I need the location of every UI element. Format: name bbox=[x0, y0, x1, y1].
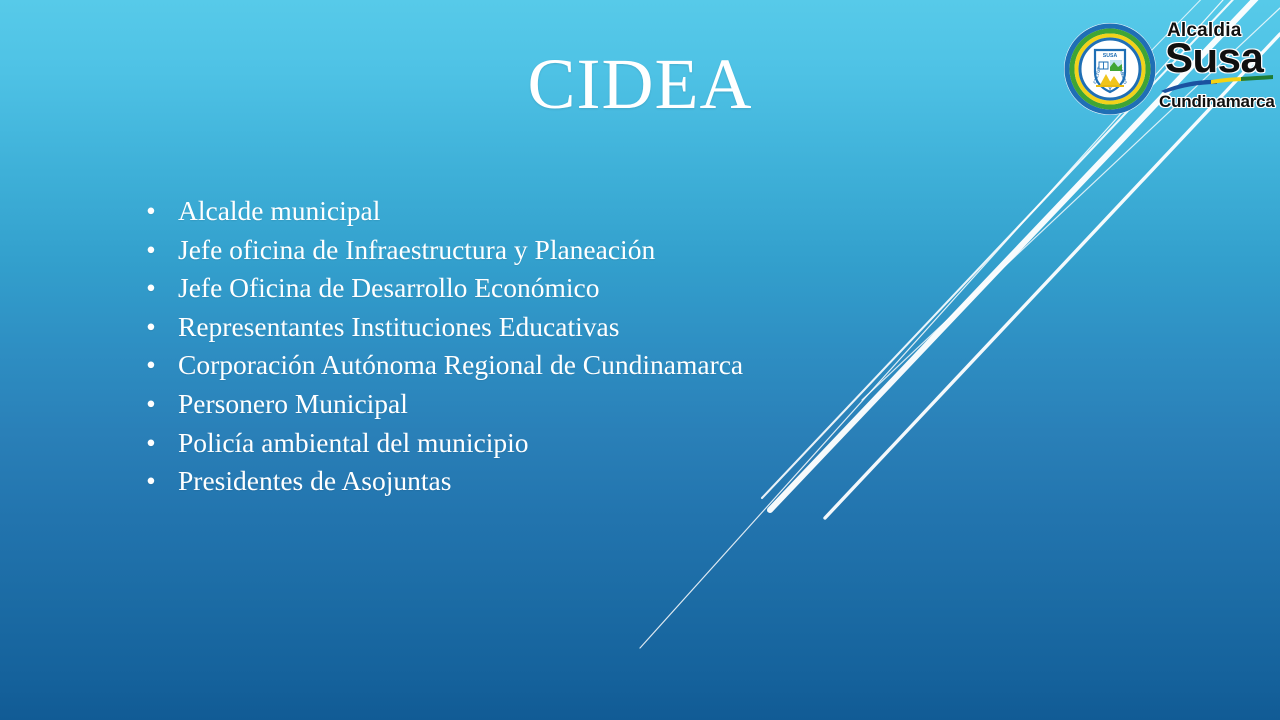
bullet-glyph-icon: • bbox=[144, 424, 158, 463]
bullet-glyph-icon: • bbox=[144, 462, 158, 501]
bullet-glyph-icon: • bbox=[144, 231, 158, 270]
list-item-label: Jefe oficina de Infraestructura y Planea… bbox=[178, 234, 655, 265]
list-item-label: Alcalde municipal bbox=[178, 195, 380, 226]
list-item: • Personero Municipal bbox=[138, 385, 1038, 424]
logo-wordmark: Alcaldia Susa Cundinamarca bbox=[1159, 18, 1275, 124]
svg-text:SUSA: SUSA bbox=[1103, 53, 1118, 59]
list-item: • Representantes Instituciones Educativa… bbox=[138, 308, 1038, 347]
list-item-label: Presidentes de Asojuntas bbox=[178, 465, 451, 496]
list-item: • Jefe Oficina de Desarrollo Económico bbox=[138, 269, 1038, 308]
bullet-glyph-icon: • bbox=[144, 308, 158, 347]
municipality-logo: SUSA CULTURA TRABAJO Y Alcaldia Susa bbox=[1063, 18, 1275, 124]
list-item-label: Personero Municipal bbox=[178, 388, 408, 419]
bullet-glyph-icon: • bbox=[144, 385, 158, 424]
list-item: • Policía ambiental del municipio bbox=[138, 424, 1038, 463]
tricolor-swoosh-icon bbox=[1159, 74, 1275, 94]
list-item: • Jefe oficina de Infraestructura y Plan… bbox=[138, 231, 1038, 270]
logo-line-cundinamarca: Cundinamarca bbox=[1159, 92, 1275, 112]
list-item-label: Corporación Autónoma Regional de Cundina… bbox=[178, 349, 743, 380]
list-item-label: Jefe Oficina de Desarrollo Económico bbox=[178, 272, 600, 303]
list-item: • Corporación Autónoma Regional de Cundi… bbox=[138, 346, 1038, 385]
list-item-label: Policía ambiental del municipio bbox=[178, 427, 529, 458]
coat-of-arms-seal-icon: SUSA CULTURA TRABAJO Y bbox=[1063, 22, 1157, 116]
list-item: • Presidentes de Asojuntas bbox=[138, 462, 1038, 501]
list-item: • Alcalde municipal bbox=[138, 192, 1038, 231]
bullet-list: • Alcalde municipal • Jefe oficina de In… bbox=[138, 192, 1038, 501]
bullet-glyph-icon: • bbox=[144, 269, 158, 308]
presentation-slide: CIDEA • Alcalde municipal • Jefe oficina… bbox=[0, 0, 1280, 720]
bullet-glyph-icon: • bbox=[144, 192, 158, 231]
bullet-glyph-icon: • bbox=[144, 346, 158, 385]
list-item-label: Representantes Instituciones Educativas bbox=[178, 311, 619, 342]
